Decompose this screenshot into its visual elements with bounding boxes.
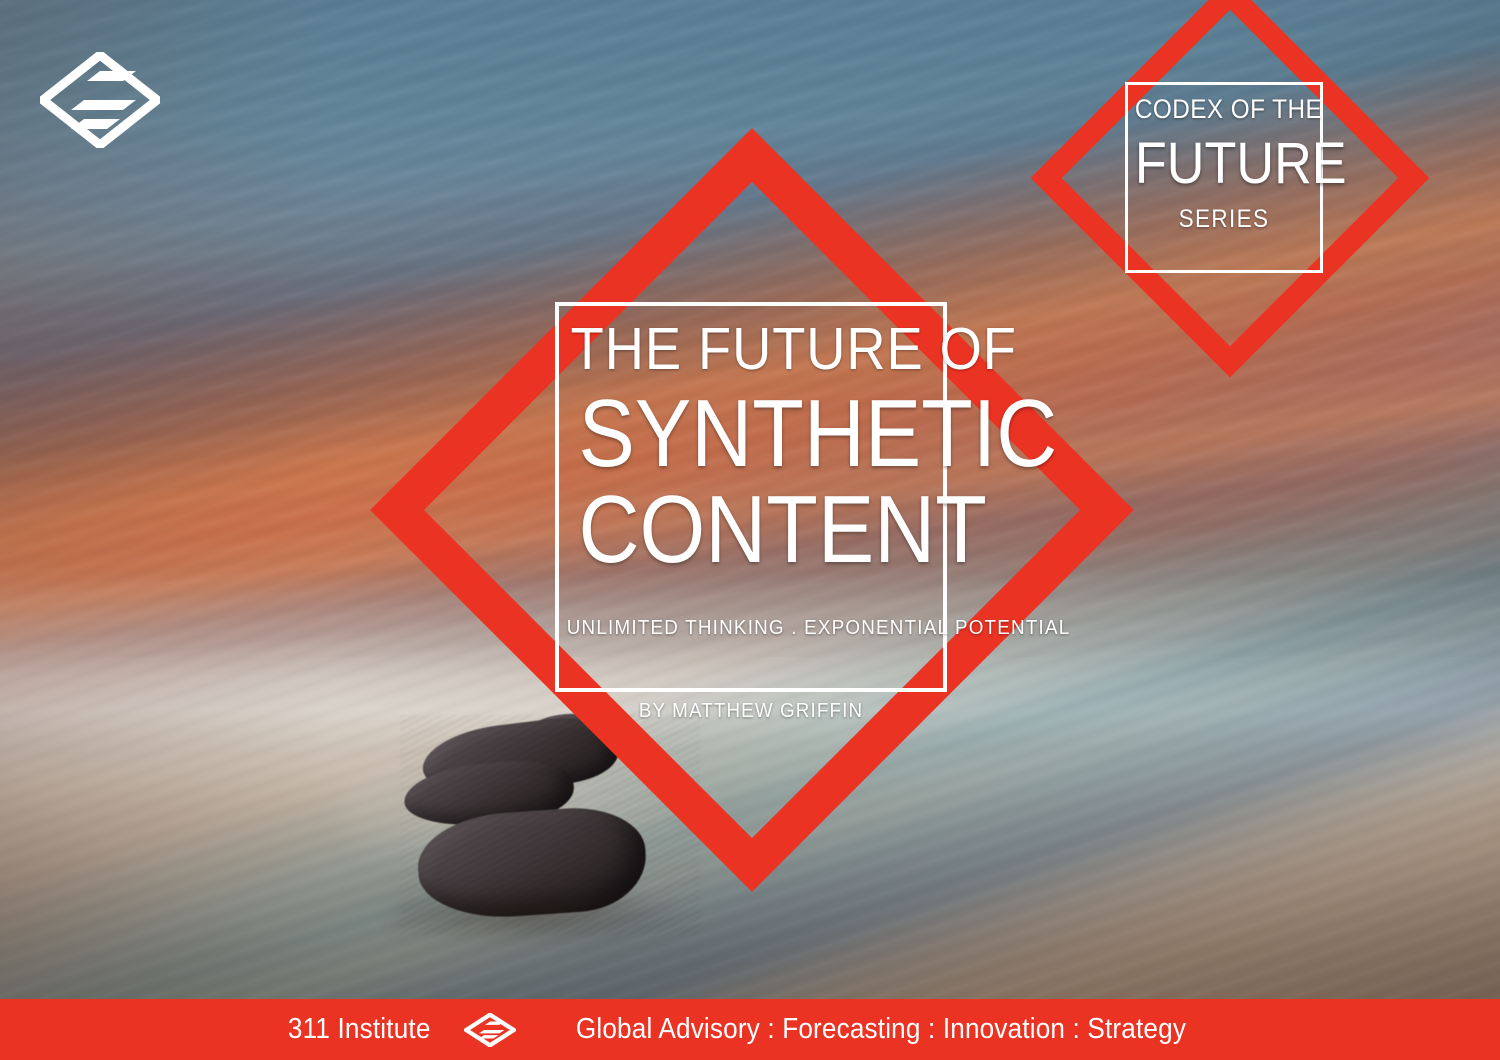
title-line-3: CONTENT [579,483,924,577]
author-byline: BY MATTHEW GRIFFIN [567,700,935,723]
title-line-2: SYNTHETIC [579,387,924,481]
footer-bar: 311 Institute Global Advisory : Forecast… [0,999,1500,1060]
title-tagline: UNLIMITED THINKING . EXPONENTIAL POTENTI… [567,617,935,640]
title-block: THE FUTURE OF SYNTHETIC CONTENT UNLIMITE… [0,0,1500,1000]
footer-brand-name: 311 Institute [288,1015,431,1044]
poster-cover: CODEX OF THE FUTURE SERIES THE FUTURE OF… [0,0,1500,1060]
title-line-1: THE FUTURE OF [571,320,932,379]
footer-diamond-e-icon[interactable] [464,1013,516,1047]
footer-services-text: Global Advisory : Forecasting : Innovati… [576,1015,1186,1044]
title-text-group: THE FUTURE OF SYNTHETIC CONTENT UNLIMITE… [555,302,947,640]
